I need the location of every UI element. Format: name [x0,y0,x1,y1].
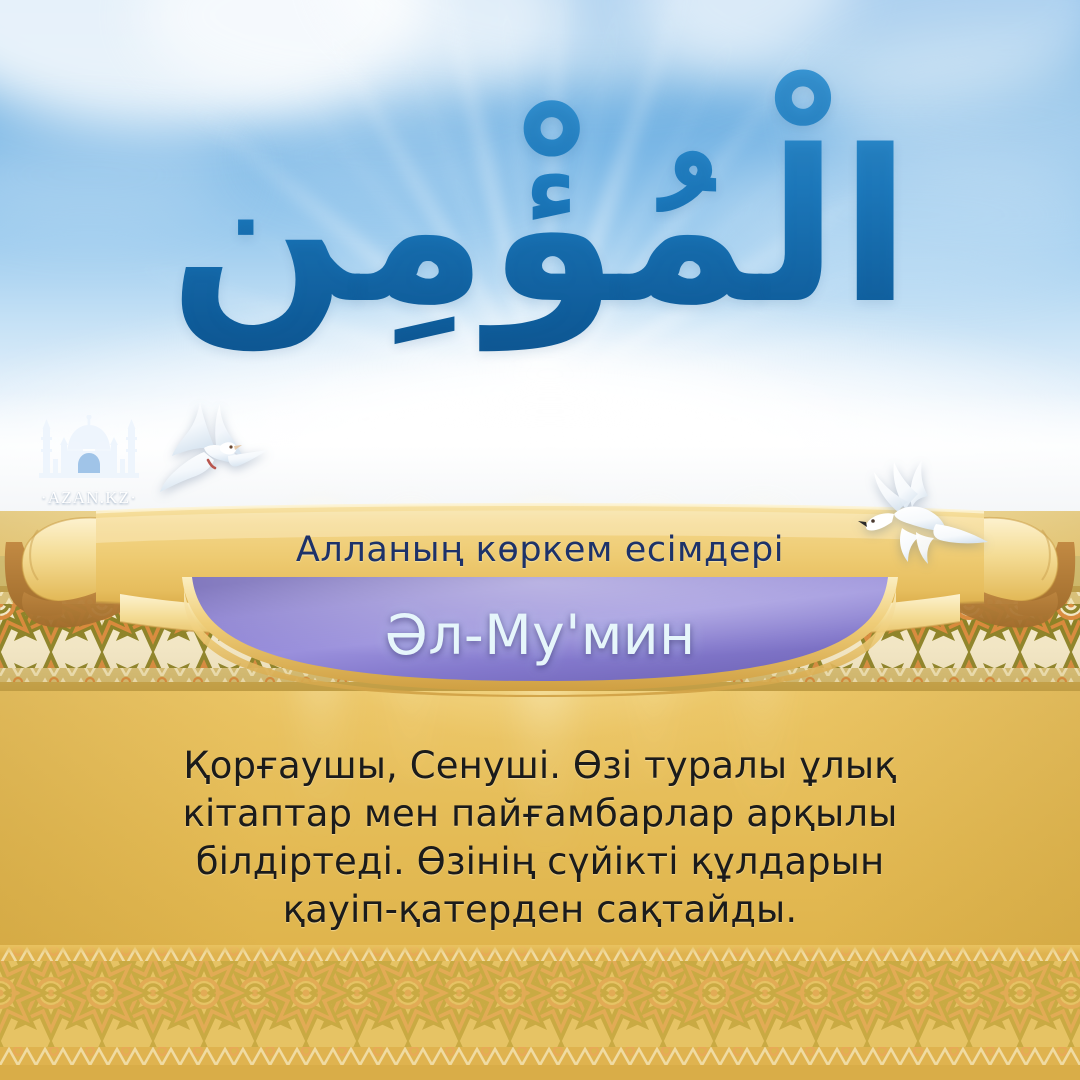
description-line: Қорғаушы, Сенуші. Өзі туралы ұлық [90,742,990,790]
sky-background [0,0,1080,512]
mosque-icon [35,415,143,487]
poster-canvas: الْمُؤْمِن [0,0,1080,1080]
description-text: Қорғаушы, Сенуші. Өзі туралы ұлық кітапт… [90,742,990,934]
divine-name: Әл-Му'мин [180,589,900,681]
description-line: қауіп-қатерден сақтайды. [90,886,990,934]
sky-haze [0,392,1080,512]
description-line: білдіртеді. Өзінің сүйікті құлдарын [90,838,990,886]
ornament-band-bottom [0,945,1080,1080]
brand-logo[interactable]: ·AZAN.KZ· [28,416,150,508]
logo-text: ·AZAN.KZ· [41,488,137,508]
ribbon-title: Алланың көркем есімдері [0,524,1080,576]
description-line: кітаптар мен пайғамбарлар арқылы [90,790,990,838]
